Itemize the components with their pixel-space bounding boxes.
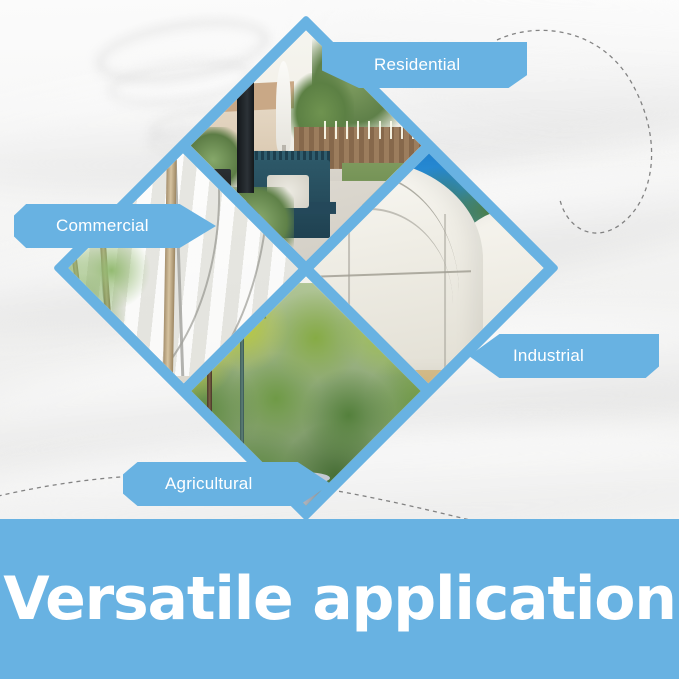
label-text-residential: Residential — [374, 55, 460, 75]
label-banner-commercial[interactable]: Commercial — [14, 204, 216, 248]
label-banner-residential[interactable]: Residential — [322, 42, 527, 88]
diamond-collage — [53, 15, 559, 521]
diamond-grid — [53, 15, 559, 521]
label-banner-agricultural[interactable]: Agricultural — [123, 462, 331, 506]
label-banner-industrial[interactable]: Industrial — [469, 334, 659, 378]
headline-text: Versatile application — [3, 569, 676, 629]
poster-canvas: Residential Commercial Industrial Agricu… — [0, 0, 679, 679]
label-text-agricultural: Agricultural — [165, 474, 252, 494]
label-text-commercial: Commercial — [56, 216, 149, 236]
label-text-industrial: Industrial — [513, 346, 584, 366]
headline-bar: Versatile application — [0, 519, 679, 679]
